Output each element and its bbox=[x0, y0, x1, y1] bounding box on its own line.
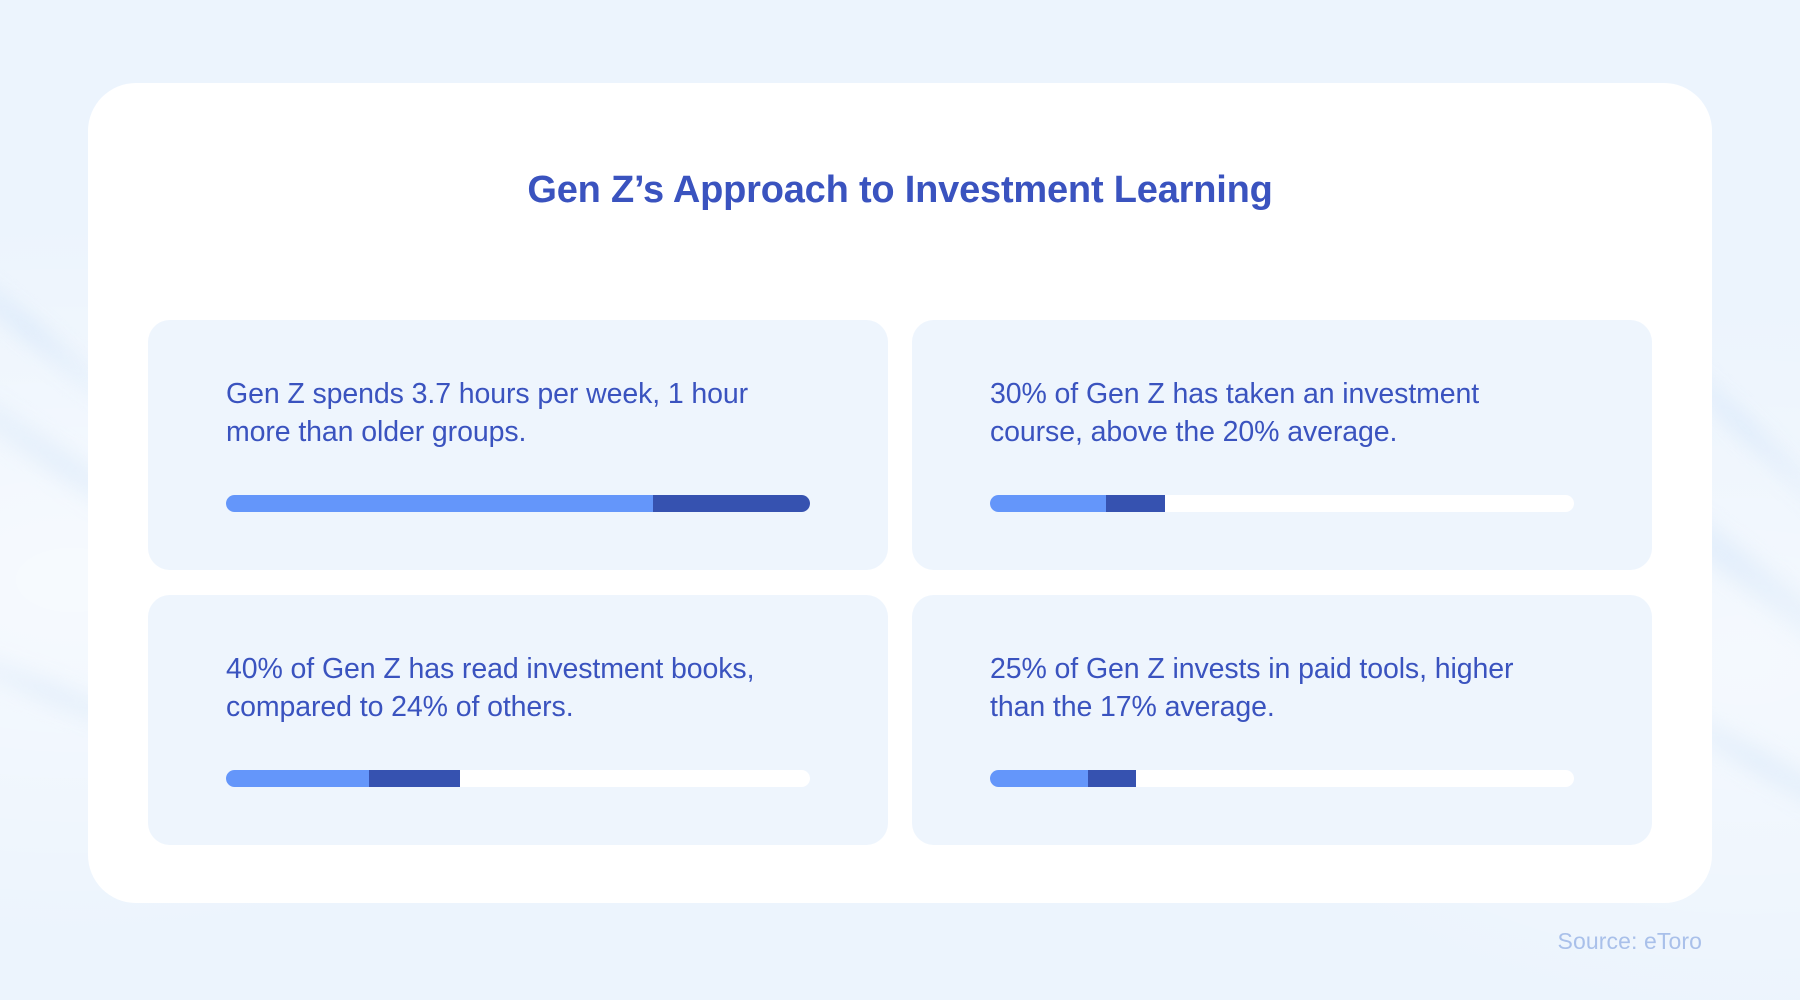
stat-card-text: 25% of Gen Z invests in paid tools, high… bbox=[990, 651, 1574, 726]
source-attribution: Source: eToro bbox=[1558, 928, 1703, 955]
stat-card-grid: Gen Z spends 3.7 hours per week, 1 hour … bbox=[148, 320, 1652, 845]
progress-segment-others bbox=[1106, 495, 1165, 512]
stat-card-investment-course: 30% of Gen Z has taken an investment cou… bbox=[912, 320, 1652, 570]
progress-segment-genz bbox=[990, 770, 1088, 787]
progress-segment-genz bbox=[226, 770, 369, 787]
progress-bar-hours-per-week bbox=[226, 495, 810, 512]
progress-segment-genz bbox=[990, 495, 1106, 512]
stat-card-text: Gen Z spends 3.7 hours per week, 1 hour … bbox=[226, 376, 810, 451]
stat-card-investment-books: 40% of Gen Z has read investment books, … bbox=[148, 595, 888, 845]
stat-card-hours-per-week: Gen Z spends 3.7 hours per week, 1 hour … bbox=[148, 320, 888, 570]
infographic-panel: Gen Z’s Approach to Investment Learning … bbox=[88, 83, 1712, 903]
progress-bar-investment-course bbox=[990, 495, 1574, 512]
page-title: Gen Z’s Approach to Investment Learning bbox=[88, 169, 1712, 212]
stat-card-paid-tools: 25% of Gen Z invests in paid tools, high… bbox=[912, 595, 1652, 845]
progress-segment-genz bbox=[226, 495, 653, 512]
progress-bar-paid-tools bbox=[990, 770, 1574, 787]
progress-segment-others bbox=[369, 770, 460, 787]
progress-segment-others bbox=[653, 495, 810, 512]
progress-bar-investment-books bbox=[226, 770, 810, 787]
stat-card-text: 40% of Gen Z has read investment books, … bbox=[226, 651, 810, 726]
stat-card-text: 30% of Gen Z has taken an investment cou… bbox=[990, 376, 1574, 451]
progress-segment-others bbox=[1088, 770, 1136, 787]
